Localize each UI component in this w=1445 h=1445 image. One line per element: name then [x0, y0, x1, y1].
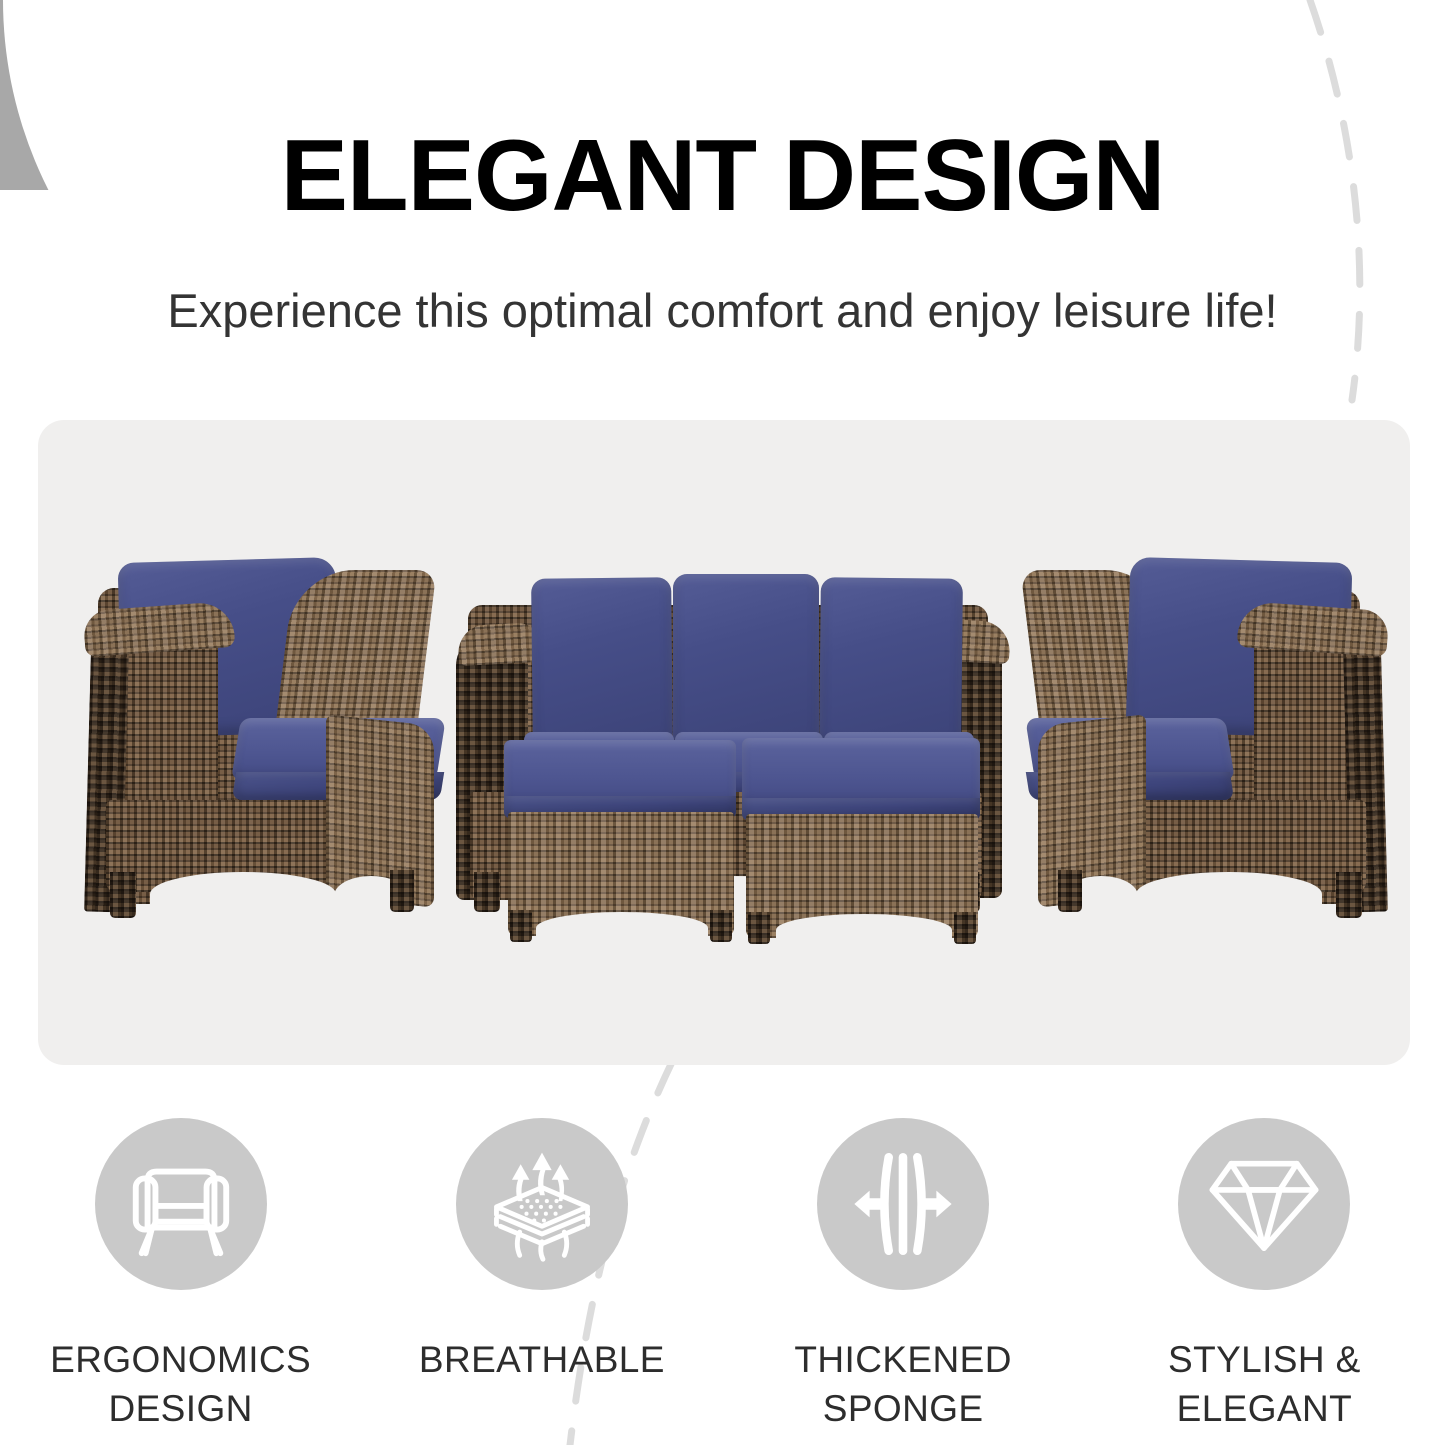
marketing-banner: ELEGANT DESIGN Experience this optimal c…: [0, 0, 1445, 1445]
diamond-icon: [1203, 1143, 1325, 1265]
feature-label-line1: STYLISH &: [1168, 1336, 1361, 1385]
feature-row: ERGONOMICS DESIGN: [0, 1118, 1445, 1434]
feature-icon-circle: [456, 1118, 628, 1290]
feature-label-line1: THICKENED: [794, 1336, 1011, 1385]
feature-icon-circle: [1178, 1118, 1350, 1290]
page-subtitle: Experience this optimal comfort and enjo…: [0, 283, 1445, 339]
feature-label-line2: ELEGANT: [1168, 1385, 1361, 1434]
feature-label-line2: SPONGE: [794, 1385, 1011, 1434]
feature-label: BREATHABLE: [419, 1336, 665, 1385]
product-stage: [38, 420, 1410, 1065]
feature-label: STYLISH & ELEGANT: [1168, 1336, 1361, 1434]
compression-sponge-icon: [841, 1142, 965, 1266]
feature-icon-circle: [95, 1118, 267, 1290]
feature-thickened-sponge: THICKENED SPONGE: [723, 1118, 1084, 1434]
feature-label-line2: DESIGN: [50, 1385, 311, 1434]
feature-label: ERGONOMICS DESIGN: [50, 1336, 311, 1434]
feature-label: THICKENED SPONGE: [794, 1336, 1011, 1434]
feature-icon-circle: [817, 1118, 989, 1290]
feature-stylish-elegant: STYLISH & ELEGANT: [1084, 1118, 1445, 1434]
feature-ergonomics-design: ERGONOMICS DESIGN: [0, 1118, 361, 1434]
armchair-icon: [122, 1145, 240, 1263]
product-image-panel: [38, 420, 1410, 1065]
feature-label-line1: BREATHABLE: [419, 1336, 665, 1385]
feature-label-line1: ERGONOMICS: [50, 1336, 311, 1385]
feature-breathable: BREATHABLE: [361, 1118, 722, 1434]
page-title: ELEGANT DESIGN: [0, 126, 1445, 227]
breathable-mesh-icon: [479, 1141, 605, 1267]
